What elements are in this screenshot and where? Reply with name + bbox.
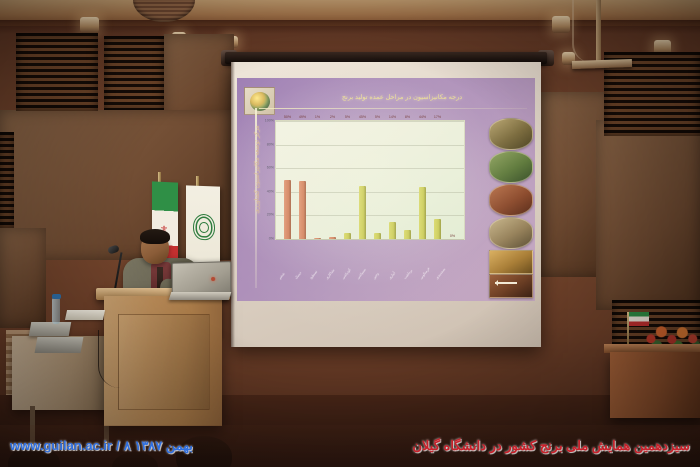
- chart-x-axis-labels: شخمدیسکتسطیحنشاکاریکودپاشیسمپاشیوجینآبیا…: [275, 240, 463, 280]
- bar: [344, 233, 351, 239]
- bar: [434, 219, 441, 239]
- y-axis-tick: 20%: [259, 214, 274, 218]
- bar-value-label: 14%: [389, 116, 396, 120]
- ceiling-light-icon: [552, 16, 570, 33]
- bar-value-label: 0%: [450, 235, 455, 239]
- bar: [404, 230, 411, 239]
- head-table: [610, 352, 700, 418]
- light-pole: [596, 0, 601, 62]
- water-bottle: [52, 298, 60, 324]
- bar-value-label: 8%: [405, 116, 410, 120]
- x-axis-tick: تسطیح: [309, 270, 318, 280]
- banner-separator: /: [116, 438, 120, 453]
- acoustic-panel: [0, 132, 14, 228]
- acoustic-panel: [16, 33, 98, 111]
- bar: [329, 237, 336, 239]
- x-axis-tick: نشاکاری: [325, 268, 336, 280]
- website-url: www.guilan.ac.ir: [10, 438, 112, 453]
- bar-group: 5%: [374, 121, 382, 239]
- podium-panel: [118, 314, 210, 410]
- chart-bars: 50%49%1%2%5%45%5%14%8%44%17%0%: [276, 121, 464, 239]
- bar: [299, 181, 306, 239]
- x-axis-tick: شخم: [278, 272, 286, 280]
- ceiling-light-icon: [80, 17, 99, 33]
- bar-value-label: 45%: [359, 116, 366, 120]
- x-axis-tick: وجین: [372, 272, 380, 280]
- y-axis-tick: 40%: [259, 190, 274, 194]
- bar-group: 44%: [419, 121, 427, 239]
- y-axis-tick: 0%: [259, 237, 274, 241]
- projected-slide: درجه مکانیزاسیون در مراحل عمده تولید برن…: [237, 78, 535, 301]
- y-axis-tick: 80%: [259, 143, 274, 147]
- x-axis-tick: کودپاشی: [341, 268, 352, 280]
- screen-edge-shadow: [231, 62, 235, 347]
- bottle-cap: [52, 294, 61, 299]
- papers: [65, 310, 105, 320]
- combine-photo: [489, 250, 533, 274]
- laptop-logo-icon: [211, 277, 215, 281]
- bar-group: 2%: [329, 121, 337, 239]
- tractor-photo: [489, 184, 533, 216]
- bar-group: 5%: [344, 121, 352, 239]
- slide-photo-strip: [489, 118, 533, 290]
- field-photo: [489, 151, 533, 183]
- wall-block: [0, 228, 46, 328]
- bar-value-label: 49%: [299, 116, 306, 120]
- x-axis-tick: آبیاری: [388, 271, 396, 280]
- bar: [359, 186, 366, 239]
- university-emblem-icon: [193, 214, 215, 241]
- speaker-hair: [140, 229, 170, 244]
- bar: [314, 238, 321, 239]
- x-axis-tick: سمپاشی: [356, 268, 367, 280]
- bar-group: 45%: [359, 121, 367, 239]
- event-title: سیزدهمین همایش ملی برنج کشور در دانشگاه …: [412, 438, 690, 454]
- event-date: ۸ بهمن ۱۳۸۷: [124, 438, 193, 453]
- bar: [389, 222, 396, 239]
- bar-group: 49%: [299, 121, 307, 239]
- transplanter-photo: [489, 274, 533, 298]
- slide-logo: [244, 87, 275, 115]
- chart-plot-area: 100%80%60%40%20%0% 50%49%1%2%5%45%5%14%8…: [275, 120, 465, 240]
- bar-group: 8%: [404, 121, 412, 239]
- speaker-head: [141, 232, 169, 264]
- harvester-photo: [489, 118, 533, 150]
- x-axis-tick: خرمنکوبی: [419, 266, 431, 280]
- bar-group: 17%: [434, 121, 442, 239]
- x-axis-tick: دیسک: [294, 271, 302, 280]
- arrow-icon: [495, 282, 517, 284]
- photograph: درجه مکانیزاسیون در مراحل عمده تولید برن…: [0, 0, 700, 467]
- bar-value-label: 17%: [434, 116, 441, 120]
- y-axis-tick: 60%: [259, 167, 274, 171]
- acoustic-panel: [104, 36, 164, 110]
- slide-title-rule: [259, 108, 527, 109]
- x-axis-tick: بسته‌بندی: [435, 267, 446, 280]
- bar: [419, 187, 426, 239]
- bar-value-label: 5%: [375, 116, 380, 120]
- bar-group: 1%: [314, 121, 322, 239]
- caption-banner: www.guilan.ac.ir/۸ بهمن ۱۳۸۷ سیزدهمین هم…: [0, 425, 700, 467]
- bar-group: 14%: [389, 121, 397, 239]
- bar-group-zero: 0%: [449, 121, 457, 239]
- slide-title: درجه مکانیزاسیون در مراحل عمده تولید برن…: [277, 89, 527, 105]
- wall-block: [596, 120, 700, 310]
- bar-group: 50%: [284, 121, 292, 239]
- x-axis-tick: برداشت: [403, 269, 413, 280]
- av-equipment: [29, 322, 71, 336]
- bar: [284, 180, 291, 239]
- cable: [98, 330, 125, 388]
- bar-value-label: 5%: [345, 116, 350, 120]
- bar: [374, 233, 381, 239]
- laptop-keyboard: [169, 292, 232, 300]
- wall-block: [164, 34, 234, 120]
- av-equipment: [35, 337, 84, 353]
- y-axis-tick: 100%: [259, 119, 274, 123]
- bar-value-label: 1%: [315, 116, 320, 120]
- banner-left-text: www.guilan.ac.ir/۸ بهمن ۱۳۸۷: [10, 438, 193, 454]
- bar-value-label: 2%: [330, 116, 335, 120]
- bar-value-label: 50%: [284, 116, 291, 120]
- machine-photo: [489, 217, 533, 249]
- bar-value-label: 44%: [419, 116, 426, 120]
